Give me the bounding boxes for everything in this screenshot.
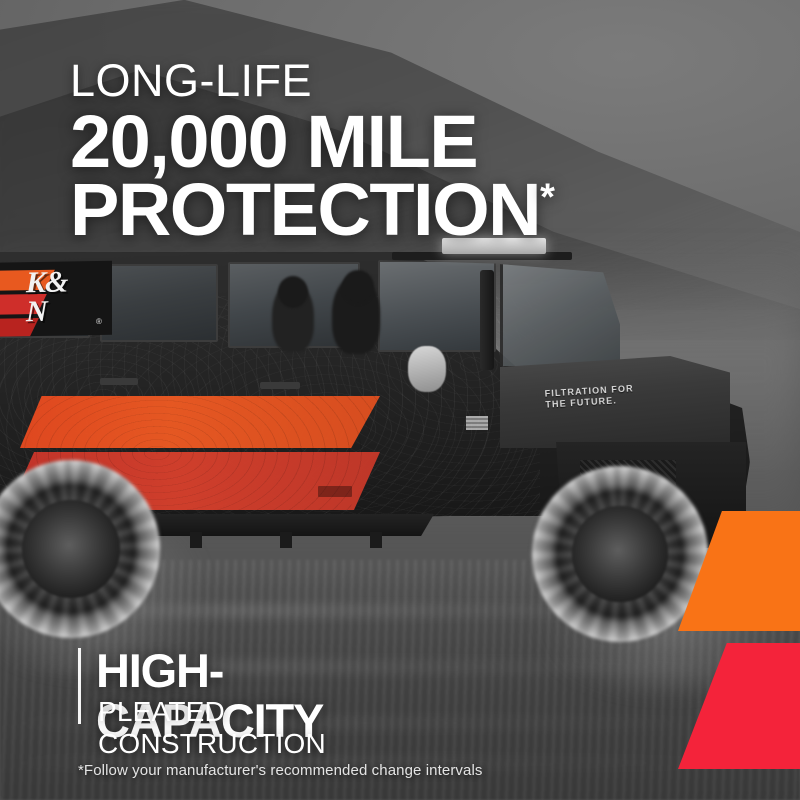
copy-layer: LONG-LIFE 20,000 MILE PROTECTION* HIGH-C… — [0, 0, 800, 800]
subhead-secondary: PLEATED CONSTRUCTION — [98, 696, 326, 760]
headline-asterisk: * — [540, 176, 555, 218]
headline: 20,000 MILE PROTECTION* — [70, 108, 555, 244]
headline-line-2-wrap: PROTECTION* — [70, 176, 555, 244]
footnote-disclaimer: *Follow your manufacturer's recommended … — [78, 762, 482, 779]
promo-banner: FILTRATION FOR THE FUTURE. K& N ® LONG-L… — [0, 0, 800, 800]
headline-line-2: PROTECTION — [70, 168, 540, 251]
eyebrow-text: LONG-LIFE — [70, 56, 312, 106]
vertical-divider-rule — [78, 648, 81, 724]
